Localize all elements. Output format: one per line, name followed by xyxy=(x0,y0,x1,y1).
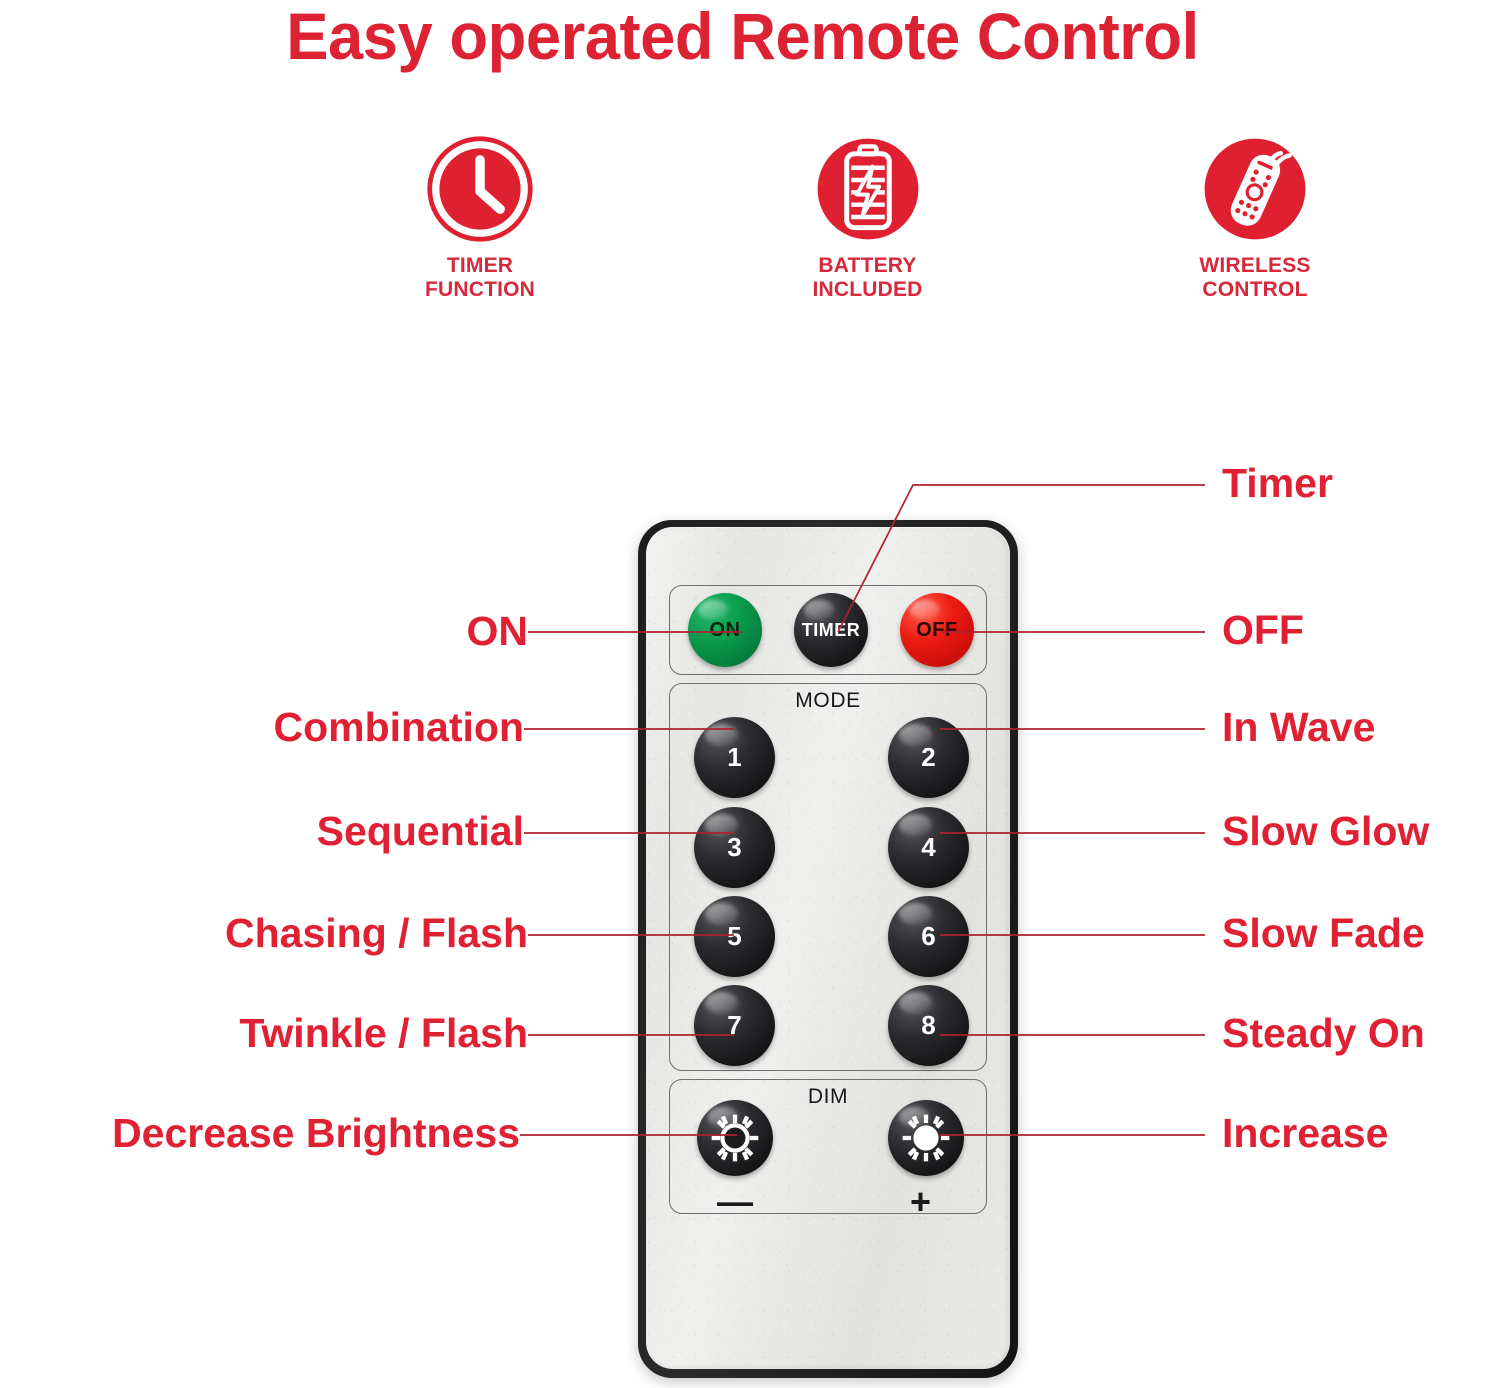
feature-label-wireless: WIRELESS CONTROL xyxy=(1199,254,1310,301)
feature-label-battery: BATTERY INCLUDED xyxy=(812,254,922,301)
button-gloss xyxy=(705,903,737,925)
dim-plus-sign: + xyxy=(910,1184,931,1220)
mode-button-1-label: 1 xyxy=(727,742,741,773)
button-gloss xyxy=(899,724,931,746)
feature-label-line1: BATTERY xyxy=(812,254,922,278)
mode-button-2[interactable]: 2 xyxy=(888,717,969,798)
mode-button-6[interactable]: 6 xyxy=(888,896,969,977)
feature-label-line2: INCLUDED xyxy=(812,278,922,302)
page-title: Easy operated Remote Control xyxy=(30,2,1456,71)
mode-panel-title: MODE xyxy=(670,689,986,713)
callout-slow-fade: Slow Fade xyxy=(1222,913,1425,954)
brightness-high-icon xyxy=(898,1110,954,1166)
power-panel: ON TIMER OFF xyxy=(669,585,987,675)
feature-badges: TIMER FUNCTION BATTERY INCLU xyxy=(330,133,1405,323)
remote-faceplate: ON TIMER OFF MODE 1 xyxy=(646,527,1010,1369)
feature-label-timer: TIMER FUNCTION xyxy=(425,254,535,301)
callout-slow-glow: Slow Glow xyxy=(1222,811,1429,852)
mode-button-7[interactable]: 7 xyxy=(694,985,775,1066)
clock-icon xyxy=(424,133,536,245)
button-gloss xyxy=(705,992,737,1014)
off-button[interactable]: OFF xyxy=(900,593,974,667)
off-button-label: OFF xyxy=(916,619,958,642)
remote-control: ON TIMER OFF MODE 1 xyxy=(638,520,1018,1378)
mode-button-2-label: 2 xyxy=(921,742,935,773)
callout-timer: Timer xyxy=(1222,463,1333,504)
feature-timer-function: TIMER FUNCTION xyxy=(330,133,630,323)
on-button-label: ON xyxy=(710,619,741,642)
button-gloss xyxy=(899,814,931,836)
infographic-page: Easy operated Remote Control TIMER FUNCT… xyxy=(0,0,1485,1388)
button-gloss xyxy=(899,903,931,925)
on-button[interactable]: ON xyxy=(688,593,762,667)
dim-decrease-button[interactable] xyxy=(697,1100,773,1176)
callout-in-wave: In Wave xyxy=(1222,707,1375,748)
feature-label-line1: TIMER xyxy=(425,254,535,278)
button-gloss xyxy=(804,600,834,620)
callout-off: OFF xyxy=(1222,610,1304,651)
brightness-low-icon xyxy=(707,1110,763,1166)
mode-button-4-label: 4 xyxy=(921,832,935,863)
remote-signal-icon xyxy=(1199,133,1311,245)
mode-button-8[interactable]: 8 xyxy=(888,985,969,1066)
button-gloss xyxy=(899,992,931,1014)
mode-button-5-label: 5 xyxy=(727,921,741,952)
callout-twinkle-flash: Twinkle / Flash xyxy=(88,1013,528,1054)
mode-button-4[interactable]: 4 xyxy=(888,807,969,888)
dim-panel: DIM xyxy=(669,1079,987,1214)
mode-button-8-label: 8 xyxy=(921,1010,935,1041)
mode-panel: MODE 1 2 3 4 xyxy=(669,683,987,1071)
mode-button-5[interactable]: 5 xyxy=(694,896,775,977)
dim-minus-sign: — xyxy=(717,1184,753,1220)
mode-button-3-label: 3 xyxy=(727,832,741,863)
battery-icon xyxy=(812,133,924,245)
mode-button-3[interactable]: 3 xyxy=(694,807,775,888)
feature-label-line2: CONTROL xyxy=(1199,278,1310,302)
feature-wireless-control: WIRELESS CONTROL xyxy=(1105,133,1405,323)
callout-sequential: Sequential xyxy=(124,811,524,852)
dim-increase-button[interactable] xyxy=(888,1100,964,1176)
callout-increase: Increase xyxy=(1222,1113,1388,1154)
mode-button-6-label: 6 xyxy=(921,921,935,952)
callout-combination: Combination xyxy=(124,707,524,748)
callout-decrease-brightness: Decrease Brightness xyxy=(10,1113,520,1154)
callout-chasing-flash: Chasing / Flash xyxy=(88,913,528,954)
mode-button-1[interactable]: 1 xyxy=(694,717,775,798)
callout-steady-on: Steady On xyxy=(1222,1013,1425,1054)
button-gloss xyxy=(910,600,940,620)
feature-label-line2: FUNCTION xyxy=(425,278,535,302)
button-gloss xyxy=(698,600,728,620)
feature-battery-included: BATTERY INCLUDED xyxy=(718,133,1018,323)
mode-button-7-label: 7 xyxy=(727,1010,741,1041)
timer-button-label: TIMER xyxy=(802,620,861,641)
button-gloss xyxy=(705,814,737,836)
feature-label-line1: WIRELESS xyxy=(1199,254,1310,278)
button-gloss xyxy=(705,724,737,746)
timer-button[interactable]: TIMER xyxy=(794,593,868,667)
callout-on: ON xyxy=(208,611,528,652)
